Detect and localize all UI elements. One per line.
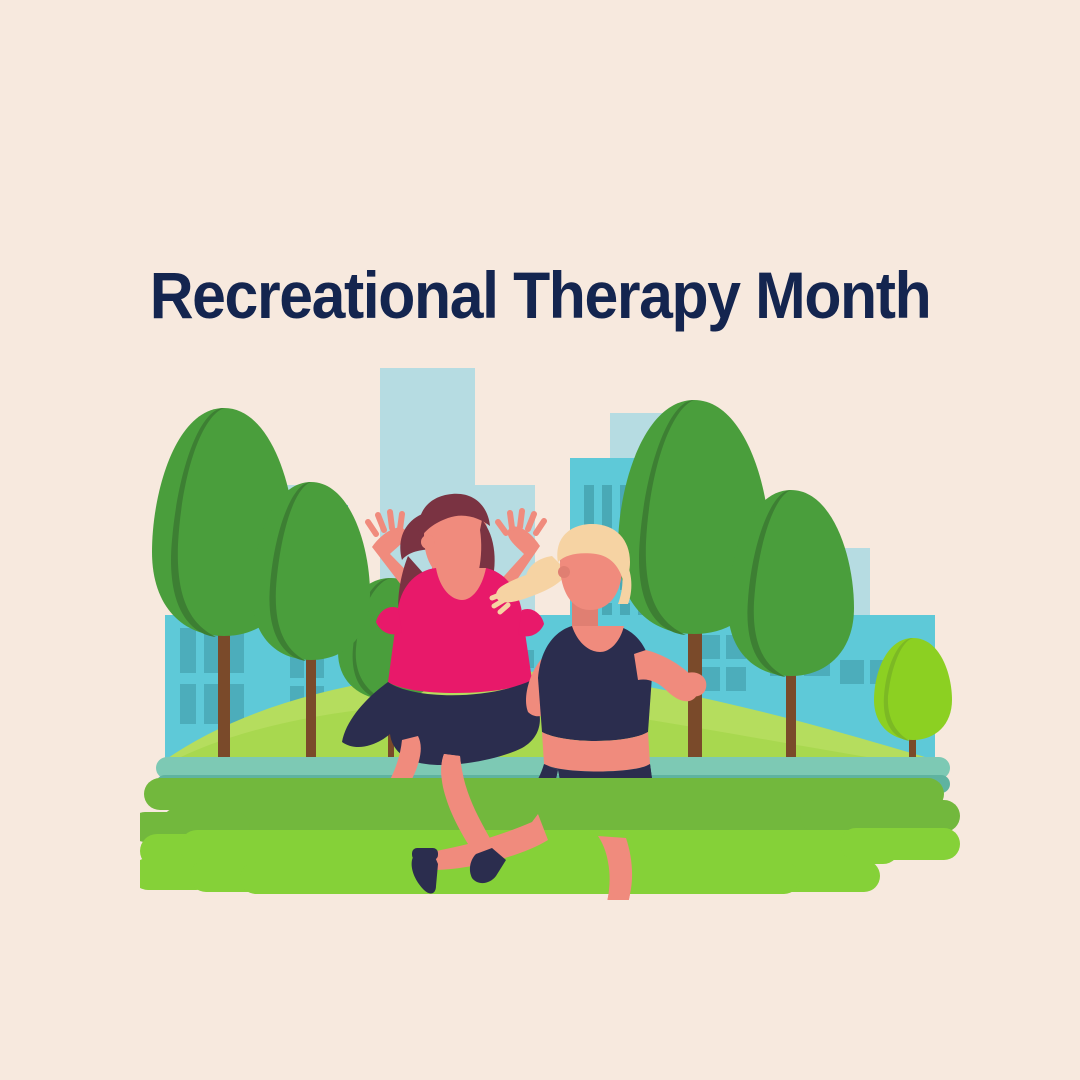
park-scene-illustration <box>140 360 960 900</box>
poster-canvas: Recreational Therapy Month <box>0 0 1080 1080</box>
page-title: Recreational Therapy Month <box>43 262 1037 328</box>
grass-strokes <box>140 778 960 894</box>
